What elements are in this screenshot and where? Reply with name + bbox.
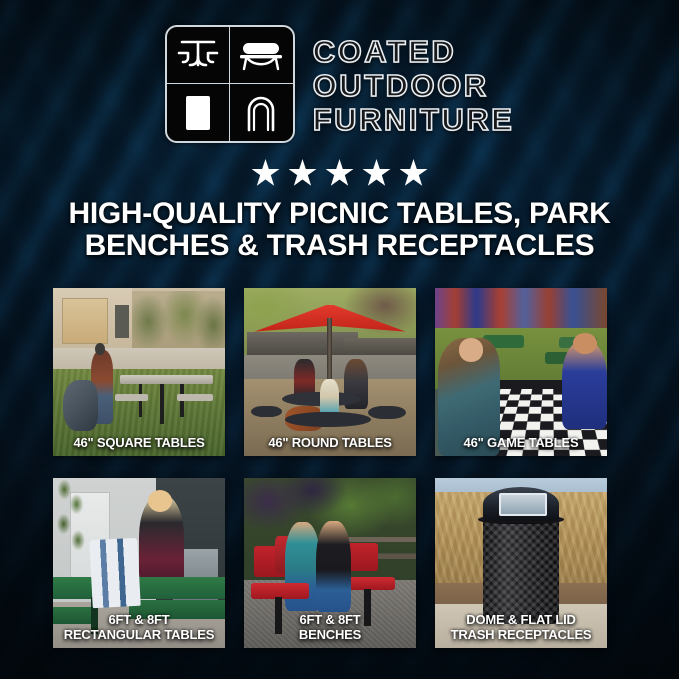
product-tile-benches[interactable]: 6FT & 8FT BENCHES xyxy=(244,478,416,648)
trash-receptacle-icon xyxy=(167,84,230,141)
caption-line-1: 6FT & 8FT xyxy=(247,613,413,628)
product-photo-square-tables xyxy=(53,288,225,456)
product-photo-round-tables xyxy=(244,288,416,456)
brand-logo: COATED OUTDOOR FURNITURE xyxy=(0,24,679,144)
product-grid: 46" SQUARE TABLES 46" ROUND TABLE xyxy=(53,288,626,648)
bike-rack-icon xyxy=(230,84,293,141)
park-bench-icon xyxy=(230,27,293,84)
caption-line-2: BENCHES xyxy=(247,628,413,643)
product-tile-rectangular-tables[interactable]: 6FT & 8FT RECTANGULAR TABLES xyxy=(53,478,225,648)
product-tile-square-tables[interactable]: 46" SQUARE TABLES xyxy=(53,288,225,456)
star-icon xyxy=(400,159,428,187)
wordmark-line-2: OUTDOOR xyxy=(313,69,515,102)
product-tile-round-tables[interactable]: 46" ROUND TABLES xyxy=(244,288,416,456)
caption-line-1: 46" SQUARE TABLES xyxy=(56,436,222,451)
brand-wordmark: COATED OUTDOOR FURNITURE xyxy=(313,33,515,136)
promo-banner: COATED OUTDOOR FURNITURE HIGH-QUALITY PI… xyxy=(0,0,679,679)
caption-line-1: DOME & FLAT LID xyxy=(438,613,604,628)
caption-line-1: 46" ROUND TABLES xyxy=(247,436,413,451)
star-rating xyxy=(0,156,679,190)
product-caption: 46" GAME TABLES xyxy=(438,436,604,451)
logo-icon-grid xyxy=(165,25,295,143)
headline-line-2: BENCHES & TRASH RECEPTACLES xyxy=(34,230,645,262)
picnic-table-icon xyxy=(167,27,230,84)
caption-line-2: TRASH RECEPTACLES xyxy=(438,628,604,643)
product-caption: DOME & FLAT LID TRASH RECEPTACLES xyxy=(438,613,604,642)
caption-line-1: 46" GAME TABLES xyxy=(438,436,604,451)
product-caption: 46" SQUARE TABLES xyxy=(56,436,222,451)
product-caption: 6FT & 8FT RECTANGULAR TABLES xyxy=(56,613,222,642)
banner-content: COATED OUTDOOR FURNITURE HIGH-QUALITY PI… xyxy=(0,0,679,679)
wordmark-line-1: COATED xyxy=(313,35,515,68)
product-tile-trash-receptacles[interactable]: DOME & FLAT LID TRASH RECEPTACLES xyxy=(435,478,607,648)
headline: HIGH-QUALITY PICNIC TABLES, PARK BENCHES… xyxy=(34,198,645,262)
caption-line-2: RECTANGULAR TABLES xyxy=(56,628,222,643)
star-icon xyxy=(252,159,280,187)
product-caption: 46" ROUND TABLES xyxy=(247,436,413,451)
star-icon xyxy=(289,159,317,187)
product-tile-game-tables[interactable]: 46" GAME TABLES xyxy=(435,288,607,456)
product-photo-game-tables xyxy=(435,288,607,456)
star-icon xyxy=(363,159,391,187)
caption-line-1: 6FT & 8FT xyxy=(56,613,222,628)
star-icon xyxy=(326,159,354,187)
headline-line-1: HIGH-QUALITY PICNIC TABLES, PARK xyxy=(68,197,610,230)
wordmark-line-3: FURNITURE xyxy=(313,103,515,136)
product-caption: 6FT & 8FT BENCHES xyxy=(247,613,413,642)
